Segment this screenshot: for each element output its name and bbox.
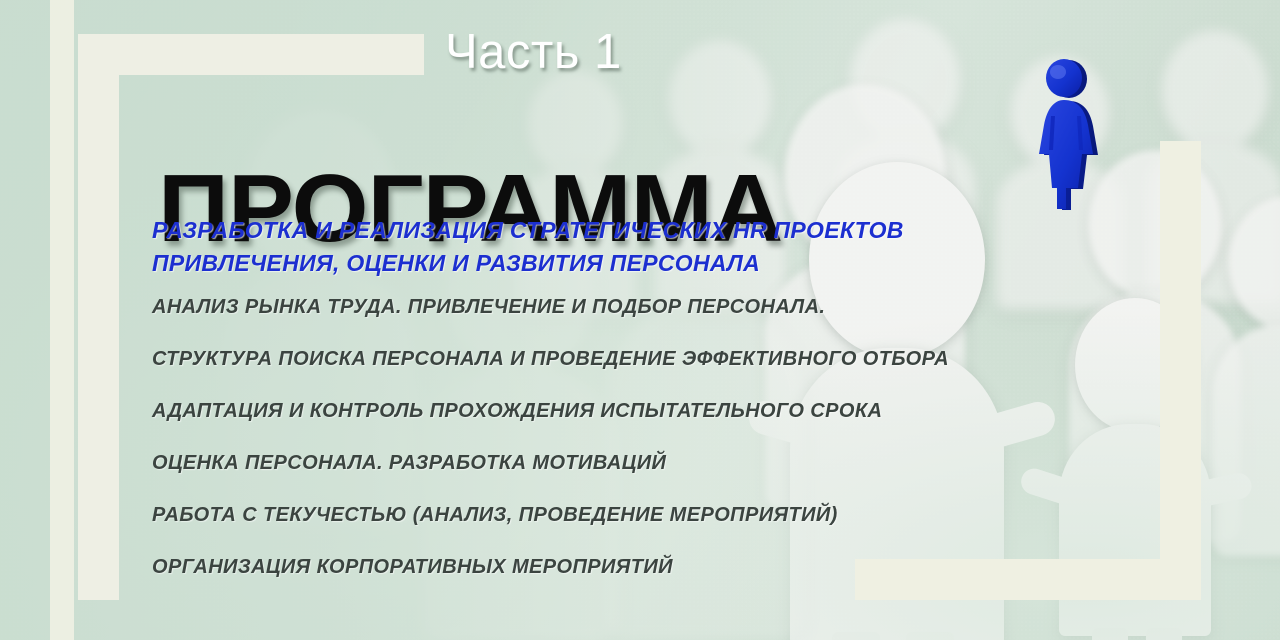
list-item: АДАПТАЦИЯ И КОНТРОЛЬ ПРОХОЖДЕНИЯ ИСПЫТАТ… — [152, 400, 1052, 422]
left-edge-strip — [50, 0, 74, 640]
presentation-slide: Часть 1 ПРОГРАММА РАЗРАБОТКА И РЕАЛИЗАЦИ… — [0, 0, 1280, 640]
frame-bracket-top-left-horizontal — [78, 34, 424, 75]
female-person-icon — [1026, 58, 1104, 210]
slide-kicker: Часть 1 — [445, 28, 622, 77]
frame-bracket-top-left-vertical — [78, 34, 119, 600]
agenda-list: АНАЛИЗ РЫНКА ТРУДА. ПРИВЛЕЧЕНИЕ И ПОДБОР… — [152, 296, 1052, 578]
list-item: АНАЛИЗ РЫНКА ТРУДА. ПРИВЛЕЧЕНИЕ И ПОДБОР… — [152, 296, 1052, 318]
subtitle-line-2: ПРИВЛЕЧЕНИЯ, ОЦЕНКИ И РАЗВИТИЯ ПЕРСОНАЛА — [152, 247, 1032, 280]
list-item: ОЦЕНКА ПЕРСОНАЛА. РАЗРАБОТКА МОТИВАЦИЙ — [152, 452, 1052, 474]
subtitle-line-1: РАЗРАБОТКА И РЕАЛИЗАЦИЯ СТРАТЕГИЧЕСКИХ H… — [152, 217, 904, 243]
list-item: РАБОТА С ТЕКУЧЕСТЬЮ (АНАЛИЗ, ПРОВЕДЕНИЕ … — [152, 504, 1052, 526]
list-item: ОРГАНИЗАЦИЯ КОРПОРАТИВНЫХ МЕРОПРИЯТИЙ — [152, 556, 1052, 578]
slide-subtitle: РАЗРАБОТКА И РЕАЛИЗАЦИЯ СТРАТЕГИЧЕСКИХ H… — [152, 214, 1032, 279]
list-item: СТРУКТУРА ПОИСКА ПЕРСОНАЛА И ПРОВЕДЕНИЕ … — [152, 348, 1052, 370]
frame-bracket-bottom-right-vertical — [1160, 141, 1201, 600]
